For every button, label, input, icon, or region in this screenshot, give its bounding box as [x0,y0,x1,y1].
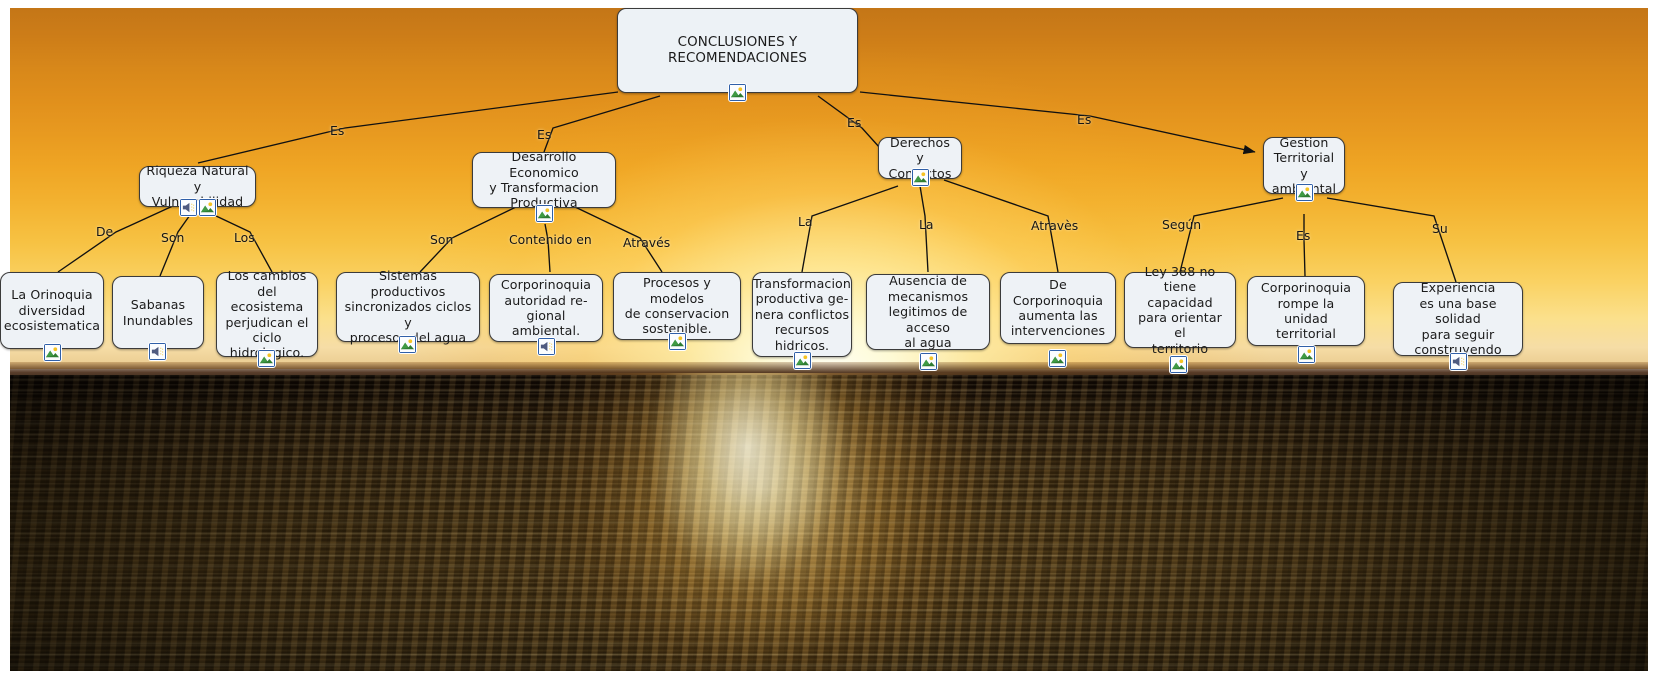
node-desarrollo-label: Desarrollo Economico y Transformacion Pr… [479,149,609,211]
node-cambios[interactable]: Los cambios del ecosistema perjudican el… [216,272,318,357]
node-sabanas-icons [149,343,166,360]
node-transformacion[interactable]: Transformacion productiva ge- nera confl… [752,272,852,357]
link-label-atraves-2: Atravès [1031,219,1078,233]
node-corpo-autoridad[interactable]: Corporinoquia autoridad re- gional ambie… [489,274,603,342]
link-label-la-2: La [919,218,934,232]
node-orinoquia-icons [44,344,61,361]
node-ausencia[interactable]: Ausencia de mecanismos legitimos de acce… [866,274,990,350]
node-desarrollo-icons [536,205,553,222]
link-label-son-2: Son [430,233,453,247]
sound-icon[interactable] [538,338,555,355]
image-icon[interactable] [199,199,216,216]
link-label-los: Los [234,231,255,245]
node-rompe-icons [1298,346,1315,363]
link-label-su: Su [1432,222,1448,236]
node-decorpo-icons [1049,350,1066,367]
link-label-es-3: Es [847,116,861,130]
node-derechos-icons [912,169,929,186]
node-rompe-label: Corporinoquia rompe la unidad territoria… [1254,280,1358,342]
image-icon[interactable] [1296,184,1313,201]
node-root[interactable]: CONCLUSIONES Y RECOMENDACIONES [617,8,858,93]
node-ley388-icons [1170,356,1187,373]
node-orinoquia-label: La Orinoquia diversidad ecosistematica [4,287,100,333]
image-icon[interactable] [1049,350,1066,367]
node-ausencia-label: Ausencia de mecanismos legitimos de acce… [873,273,983,350]
node-procesos-icons [669,333,686,350]
image-icon[interactable] [920,353,937,370]
node-desarrollo[interactable]: Desarrollo Economico y Transformacion Pr… [472,152,616,208]
node-ley388-label: Ley 388 no tiene capacidad para orientar… [1131,264,1229,356]
link-label-es-1: Es [330,124,344,138]
node-sistemas-label: Sistemas productivos sincronizados ciclo… [343,268,473,345]
link-label-la-1: La [798,215,813,229]
link-label-de: De [96,225,113,239]
sound-icon[interactable] [149,343,166,360]
node-root-icons [729,84,746,101]
link-label-atraves-1: Através [623,236,670,250]
node-sabanas-label: Sabanas Inundables [123,297,193,328]
node-cambios-icons [258,350,275,367]
node-riqueza-icons [180,199,216,216]
link-label-contenido-en: Contenido en [509,233,592,247]
image-icon[interactable] [536,205,553,222]
node-corpo-autoridad-icons [538,338,555,355]
node-corpo-autoridad-label: Corporinoquia autoridad re- gional ambie… [496,277,596,339]
node-rompe[interactable]: Corporinoquia rompe la unidad territoria… [1247,276,1365,346]
node-experiencia[interactable]: Experiencia es una base solidad para seg… [1393,282,1523,356]
image-icon[interactable] [1170,356,1187,373]
image-icon[interactable] [258,350,275,367]
node-transformacion-icons [794,352,811,369]
node-sistemas[interactable]: Sistemas productivos sincronizados ciclo… [336,272,480,342]
image-icon[interactable] [729,84,746,101]
image-icon[interactable] [1298,346,1315,363]
image-icon[interactable] [669,333,686,350]
image-icon[interactable] [912,169,929,186]
image-icon[interactable] [44,344,61,361]
sound-icon[interactable] [180,199,197,216]
node-decorpo[interactable]: De Corporinoquia aumenta las intervencio… [1000,272,1116,344]
sound-icon[interactable] [1450,353,1467,370]
concept-map: CONCLUSIONES Y RECOMENDACIONES Riqueza N… [0,0,1658,679]
node-procesos-label: Procesos y modelos de conservacion soste… [620,275,734,337]
node-decorpo-label: De Corporinoquia aumenta las intervencio… [1007,277,1109,339]
node-procesos[interactable]: Procesos y modelos de conservacion soste… [613,272,741,340]
node-orinoquia[interactable]: La Orinoquia diversidad ecosistematica [0,272,104,349]
node-root-label: CONCLUSIONES Y RECOMENDACIONES [624,35,851,66]
node-ausencia-icons [920,353,937,370]
node-sistemas-icons [399,336,416,353]
node-gestion-icons [1296,184,1313,201]
node-experiencia-label: Experiencia es una base solidad para seg… [1400,280,1516,357]
link-label-es-gestion: Es [1296,229,1310,243]
link-label-son-1: Son [161,231,184,245]
node-transformacion-label: Transformacion productiva ge- nera confl… [753,276,851,353]
node-ley388[interactable]: Ley 388 no tiene capacidad para orientar… [1124,272,1236,348]
link-label-es-4: Es [1077,113,1091,127]
node-cambios-label: Los cambios del ecosistema perjudican el… [223,268,311,360]
node-sabanas[interactable]: Sabanas Inundables [112,276,204,349]
link-label-es-2: Es [537,128,551,142]
concept-map-canvas: CONCLUSIONES Y RECOMENDACIONES Riqueza N… [0,0,1658,679]
node-experiencia-icons [1450,353,1467,370]
image-icon[interactable] [399,336,416,353]
image-icon[interactable] [794,352,811,369]
link-label-segun: Según [1162,218,1201,232]
